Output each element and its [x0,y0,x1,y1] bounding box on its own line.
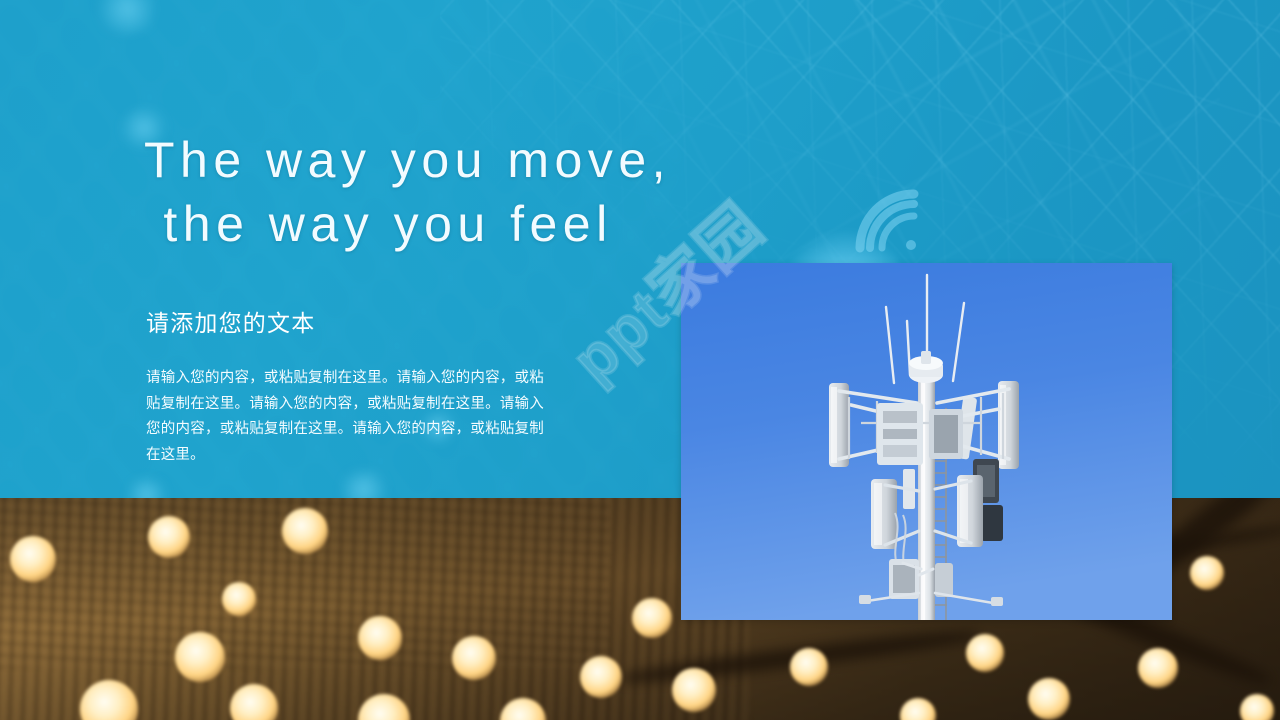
bokeh-light [1138,648,1178,688]
headline-line-2: the way you feel [144,196,613,252]
headline-line-1: The way you move, [144,132,671,188]
bokeh-light [358,616,402,660]
page-title: The way you move, the way you feel [144,128,671,256]
body-paragraph: 请输入您的内容，或粘贴复制在这里。请输入您的内容，或粘贴复制在这里。请输入您的内… [146,366,544,468]
bokeh-light [580,656,622,698]
bokeh-light [282,508,328,554]
bokeh-light [966,634,1004,672]
bokeh-light [175,632,225,682]
bokeh-light [222,582,256,616]
bokeh-light [1028,678,1070,720]
cell-tower-illustration [681,263,1172,620]
bokeh-light [148,516,190,558]
bokeh-light [900,698,936,720]
bokeh-light [1240,694,1274,720]
bokeh-light [1190,556,1224,590]
bokeh-light [452,636,496,680]
bokeh-light [672,668,716,712]
wifi-signal-icon [852,186,922,256]
bokeh-light [632,598,672,638]
bokeh-light [790,648,828,686]
subtitle: 请添加您的文本 [146,308,315,338]
presentation-slide: The way you move, the way you feel 请添加您的… [0,0,1280,720]
cell-tower-image-card[interactable] [681,263,1172,620]
bokeh-light [10,536,56,582]
